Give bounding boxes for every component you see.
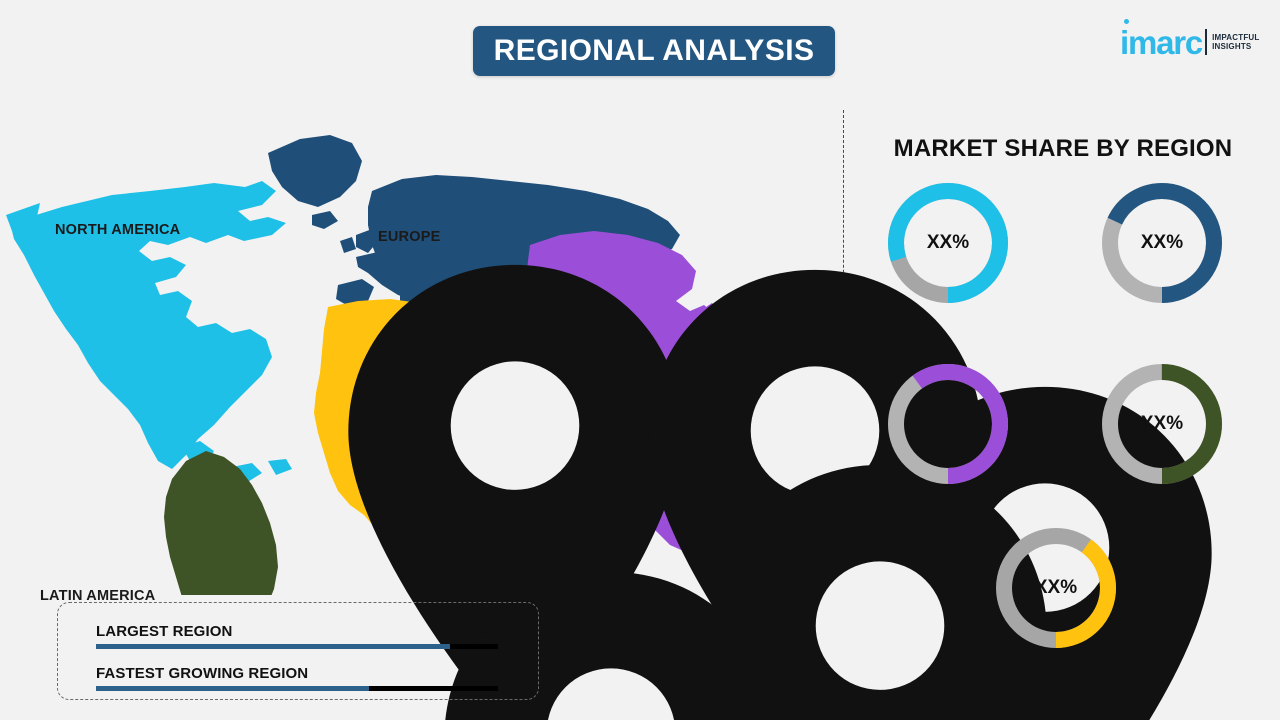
logo-divider bbox=[1205, 29, 1207, 55]
logo-tagline-line2: INSIGHTS bbox=[1212, 42, 1259, 51]
donut-chart-north-america: XX% bbox=[882, 177, 1014, 309]
legend-label: LARGEST REGION bbox=[96, 623, 232, 640]
donut-percent-label: XX% bbox=[882, 358, 1014, 490]
market-share-title: MARKET SHARE BY REGION bbox=[893, 135, 1233, 163]
legend-value: XX bbox=[480, 624, 498, 639]
page-title: REGIONAL ANALYSIS bbox=[494, 34, 815, 68]
donut-chart-asia-pacific: XX% bbox=[882, 358, 1014, 490]
legend-row-head: FASTEST GROWING REGION XX bbox=[96, 665, 498, 682]
legend-label: FASTEST GROWING REGION bbox=[96, 665, 308, 682]
region-legend-box: LARGEST REGION XX FASTEST GROWING REGION… bbox=[57, 602, 539, 700]
legend-progress-track bbox=[96, 686, 498, 691]
logo-dot-icon bbox=[1124, 19, 1129, 24]
page-title-banner: REGIONAL ANALYSIS bbox=[473, 26, 835, 76]
donut-percent-label: XX% bbox=[1096, 177, 1228, 309]
donut-chart-latin-america: XX% bbox=[1096, 358, 1228, 490]
legend-row-largest-region: LARGEST REGION XX bbox=[96, 623, 498, 649]
donut-percent-label: XX% bbox=[1096, 358, 1228, 490]
logo-wordmark: imarc bbox=[1120, 26, 1202, 59]
donut-chart-middle-east-africa: XX% bbox=[990, 522, 1122, 654]
map-region-greenland bbox=[268, 135, 362, 229]
infographic-canvas: REGIONAL ANALYSIS imarc IMPACTFUL INSIGH… bbox=[0, 0, 1280, 720]
legend-progress-fill bbox=[96, 644, 450, 649]
donut-percent-label: XX% bbox=[882, 177, 1014, 309]
logo-tagline: IMPACTFUL INSIGHTS bbox=[1212, 33, 1259, 51]
world-map: NORTH AMERICA EUROPE ASIA PACIFIC MIDDLE… bbox=[0, 95, 830, 595]
legend-value: XX bbox=[480, 666, 498, 681]
map-label-europe: EUROPE bbox=[378, 228, 440, 248]
legend-row-head: LARGEST REGION XX bbox=[96, 623, 498, 640]
legend-progress-track bbox=[96, 644, 498, 649]
donut-percent-label: XX% bbox=[990, 522, 1122, 654]
logo-wordmark-text: imarc bbox=[1120, 24, 1202, 61]
donut-chart-europe: XX% bbox=[1096, 177, 1228, 309]
legend-row-fastest-growing-region: FASTEST GROWING REGION XX bbox=[96, 665, 498, 691]
map-label-north-america: NORTH AMERICA bbox=[55, 221, 180, 241]
legend-progress-fill bbox=[96, 686, 369, 691]
imarc-logo: imarc IMPACTFUL INSIGHTS bbox=[1120, 22, 1259, 62]
logo-tagline-line1: IMPACTFUL bbox=[1212, 33, 1259, 42]
